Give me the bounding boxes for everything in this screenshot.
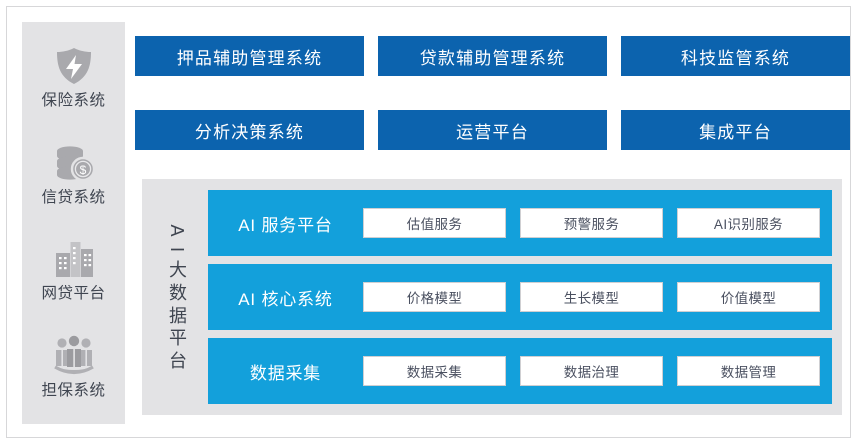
platform-row-cells: 数据采集 数据治理 数据管理 [363, 356, 832, 386]
platform-row-title: AI 服务平台 [208, 211, 363, 236]
system-button-operations-platform[interactable]: 运营平台 [378, 110, 607, 150]
platform-cell[interactable]: AI识别服务 [677, 208, 820, 238]
platform-row-title: AI 核心系统 [208, 285, 363, 310]
system-button-label: 押品辅助管理系统 [177, 44, 323, 69]
people-group-icon [51, 333, 97, 379]
system-button-integration-platform[interactable]: 集成平台 [621, 110, 850, 150]
platform-row-ai-service[interactable]: AI 服务平台 估值服务 预警服务 AI识别服务 [208, 190, 832, 256]
platform-cell-label: 价格模型 [407, 287, 463, 307]
platform-title-char: 据 [169, 307, 187, 326]
sidebar: 保险系统 $ 信贷系统 [22, 22, 125, 424]
platform-cell-label: 价值模型 [721, 287, 777, 307]
sidebar-item-credit[interactable]: $ 信贷系统 [22, 140, 125, 206]
top-systems-area: 押品辅助管理系统 贷款辅助管理系统 科技监管系统 分析决策系统 运营平台 集成平… [135, 22, 850, 164]
platform-cell-label: 数据采集 [407, 361, 463, 381]
platform-cell[interactable]: 价值模型 [677, 282, 820, 312]
system-button-loan-management[interactable]: 贷款辅助管理系统 [378, 36, 607, 76]
platform-row-cells: 估值服务 预警服务 AI识别服务 [363, 208, 832, 238]
system-button-label: 科技监管系统 [681, 44, 790, 69]
coins-dollar-icon: $ [51, 140, 97, 186]
platform-cell[interactable]: 数据治理 [520, 356, 663, 386]
system-button-label: 运营平台 [456, 118, 529, 143]
sidebar-item-guarantee[interactable]: 担保系统 [22, 333, 125, 399]
sidebar-item-insurance[interactable]: 保险系统 [22, 43, 125, 109]
sidebar-item-online-lending[interactable]: 网贷平台 [22, 236, 125, 302]
sidebar-item-label: 网贷平台 [41, 285, 105, 302]
buildings-icon [51, 236, 97, 282]
platform-cell-label: 生长模型 [564, 287, 620, 307]
system-button-label: 贷款辅助管理系统 [420, 44, 566, 69]
platform-vertical-title: A I 大 数 据 平 台 [152, 189, 204, 405]
platform-cell-label: 数据管理 [721, 361, 777, 381]
platform-row-ai-core[interactable]: AI 核心系统 价格模型 生长模型 价值模型 [208, 264, 832, 330]
system-button-collateral-management[interactable]: 押品辅助管理系统 [135, 36, 364, 76]
platform-title-char: 数 [169, 284, 187, 303]
platform-layer-rows: AI 服务平台 估值服务 预警服务 AI识别服务 AI 核心系统 [208, 190, 832, 404]
platform-cell[interactable]: 价格模型 [363, 282, 506, 312]
system-button-label: 集成平台 [699, 118, 772, 143]
system-button-label: 分析决策系统 [195, 118, 304, 143]
platform-cell[interactable]: 生长模型 [520, 282, 663, 312]
platform-cell[interactable]: 估值服务 [363, 208, 506, 238]
platform-row-title: 数据采集 [208, 359, 363, 384]
platform-cell[interactable]: 数据管理 [677, 356, 820, 386]
platform-title-char: 台 [169, 352, 187, 371]
diagram-frame: 保险系统 $ 信贷系统 [6, 6, 851, 438]
top-systems-row-1: 押品辅助管理系统 贷款辅助管理系统 科技监管系统 [135, 36, 850, 76]
platform-title-char: 大 [169, 261, 187, 280]
sidebar-item-label: 保险系统 [41, 92, 105, 109]
platform-cell-label: 估值服务 [407, 213, 463, 233]
platform-row-data-collection[interactable]: 数据采集 数据采集 数据治理 数据管理 [208, 338, 832, 404]
ai-bigdata-platform-panel: A I 大 数 据 平 台 AI 服务平台 估值服务 预警服务 [142, 179, 842, 415]
platform-cell-label: AI识别服务 [714, 213, 783, 233]
platform-title-char: I [171, 242, 186, 257]
shield-bolt-icon [51, 43, 97, 89]
sidebar-item-label: 担保系统 [41, 382, 105, 399]
system-button-analysis-decision[interactable]: 分析决策系统 [135, 110, 364, 150]
platform-cell-label: 预警服务 [564, 213, 620, 233]
platform-title-char: A [171, 223, 186, 238]
platform-cell[interactable]: 数据采集 [363, 356, 506, 386]
svg-text:$: $ [79, 163, 86, 177]
system-button-tech-supervision[interactable]: 科技监管系统 [621, 36, 850, 76]
top-systems-row-2: 分析决策系统 运营平台 集成平台 [135, 110, 850, 150]
platform-title-char: 平 [169, 329, 187, 348]
platform-cell-label: 数据治理 [564, 361, 620, 381]
sidebar-item-label: 信贷系统 [41, 189, 105, 206]
platform-cell[interactable]: 预警服务 [520, 208, 663, 238]
platform-row-cells: 价格模型 生长模型 价值模型 [363, 282, 832, 312]
